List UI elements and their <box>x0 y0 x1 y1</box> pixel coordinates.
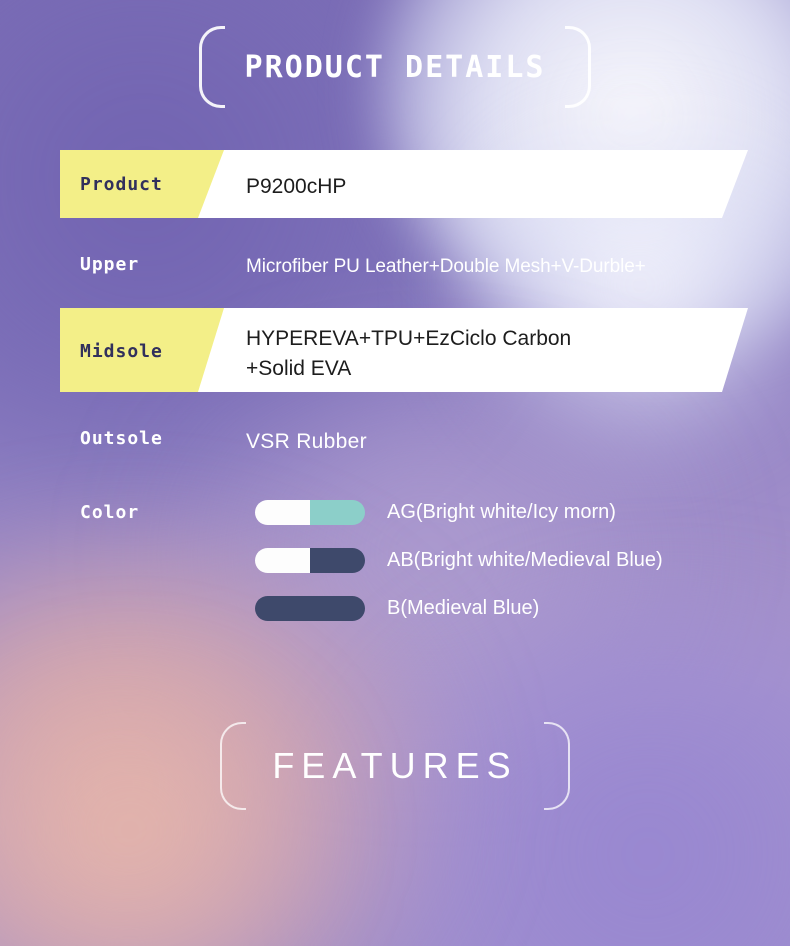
product-details-heading: PRODUCT DETAILS <box>0 26 790 108</box>
bracket-right-icon <box>544 722 570 810</box>
color-swatch-half-left <box>255 500 310 525</box>
features-heading: FEATURES <box>0 722 790 810</box>
spec-label-product: Product <box>80 174 163 195</box>
color-swatch-list: AG(Bright white/Icy morn) AB(Bright whit… <box>255 488 775 632</box>
color-swatch-pill <box>255 596 365 621</box>
features-heading-text: FEATURES <box>246 745 543 787</box>
bracket-right-icon <box>565 26 591 108</box>
color-swatch-half-left <box>255 596 310 621</box>
color-swatch-half-right <box>310 500 365 525</box>
spec-label-color: Color <box>80 502 139 523</box>
spec-value-midsole: HYPEREVA+TPU+EzCiclo Carbon +Solid EVA <box>246 324 571 384</box>
color-swatch-label: AB(Bright white/Medieval Blue) <box>387 549 663 572</box>
spec-row-midsole: Midsole HYPEREVA+TPU+EzCiclo Carbon +Sol… <box>0 308 790 392</box>
spec-row-outsole: Outsole VSR Rubber <box>0 414 790 464</box>
bracket-left-icon <box>220 722 246 810</box>
color-swatch-option[interactable]: AB(Bright white/Medieval Blue) <box>255 536 775 584</box>
color-swatch-pill <box>255 500 365 525</box>
bracket-left-icon <box>199 26 225 108</box>
spec-label-upper: Upper <box>80 254 139 275</box>
color-swatch-label: AG(Bright white/Icy morn) <box>387 501 616 524</box>
color-swatch-half-left <box>255 548 310 573</box>
spec-row-color: Color AG(Bright white/Icy morn) AB(Brigh… <box>0 488 790 633</box>
spec-row-product: Product P9200cHP <box>0 150 790 218</box>
spec-value-outsole: VSR Rubber <box>246 427 367 457</box>
spec-label-midsole: Midsole <box>80 341 163 362</box>
color-swatch-label: B(Medieval Blue) <box>387 597 539 620</box>
spec-value-upper: Microfiber PU Leather+Double Mesh+V-Durb… <box>246 254 646 281</box>
color-swatch-half-right <box>310 548 365 573</box>
color-swatch-pill <box>255 548 365 573</box>
color-swatch-option[interactable]: AG(Bright white/Icy morn) <box>255 488 775 536</box>
color-swatch-half-right <box>310 596 365 621</box>
spec-row-upper: Upper Microfiber PU Leather+Double Mesh+… <box>0 236 790 294</box>
color-swatch-option[interactable]: B(Medieval Blue) <box>255 584 775 632</box>
spec-label-outsole: Outsole <box>80 428 163 449</box>
spec-value-product: P9200cHP <box>246 172 346 202</box>
product-details-heading-text: PRODUCT DETAILS <box>225 50 566 85</box>
